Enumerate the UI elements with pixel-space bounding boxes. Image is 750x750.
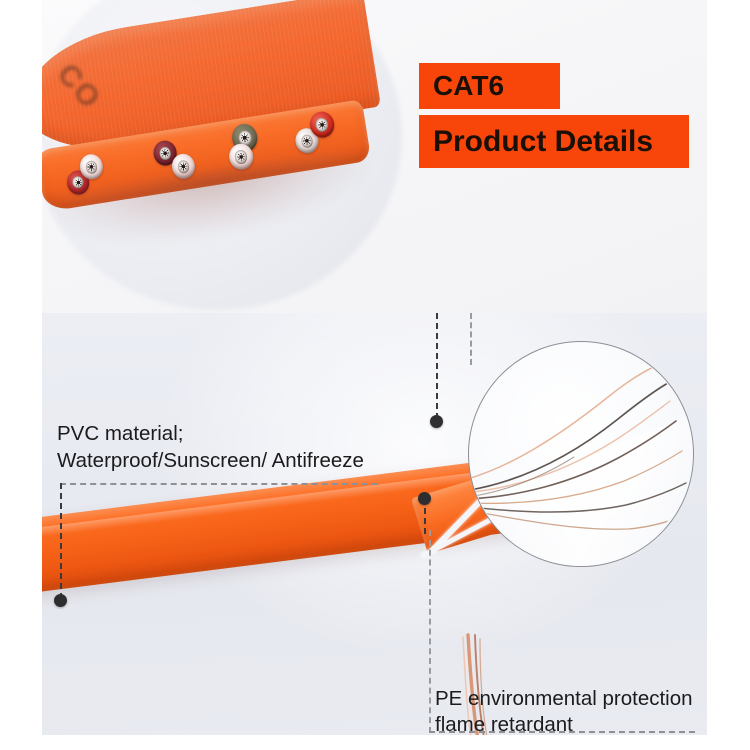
- badge-product-details-label: Product Details: [433, 125, 653, 159]
- leader-magnifier: [470, 313, 472, 365]
- bottom-diagram-panel: [42, 313, 707, 735]
- dot-copper-conductor: [430, 415, 443, 428]
- callout-pe-leader-vertical: [429, 530, 431, 733]
- badge-cat6-label: CAT6: [433, 70, 504, 102]
- callout-pvc-dot: [54, 594, 67, 607]
- callout-pe-line1: PE environmental protection: [435, 686, 693, 712]
- cable-cross-section-macro: CO: [42, 0, 393, 238]
- callout-pvc-line1: PVC material;: [57, 420, 364, 447]
- leader-strand-upper: [436, 313, 438, 419]
- dot-pe-insulation: [418, 492, 431, 505]
- callout-pvc-line2: Waterproof/Sunscreen/ Antifreeze: [57, 447, 364, 474]
- badge-cat6: CAT6: [419, 63, 560, 109]
- callout-pvc-leader-horizontal: [60, 483, 378, 485]
- callout-pe-line2: flame retardant: [435, 712, 693, 738]
- fanned-copper-strands: [468, 341, 692, 565]
- callout-pvc-leader-vertical: [60, 483, 62, 599]
- top-photo-panel: CO: [42, 0, 707, 313]
- badge-product-details: Product Details: [419, 115, 689, 168]
- callout-pvc: PVC material; Waterproof/Sunscreen/ Anti…: [57, 420, 364, 474]
- callout-pe-leader-horizontal: [429, 731, 695, 733]
- product-detail-image: CO: [0, 0, 750, 750]
